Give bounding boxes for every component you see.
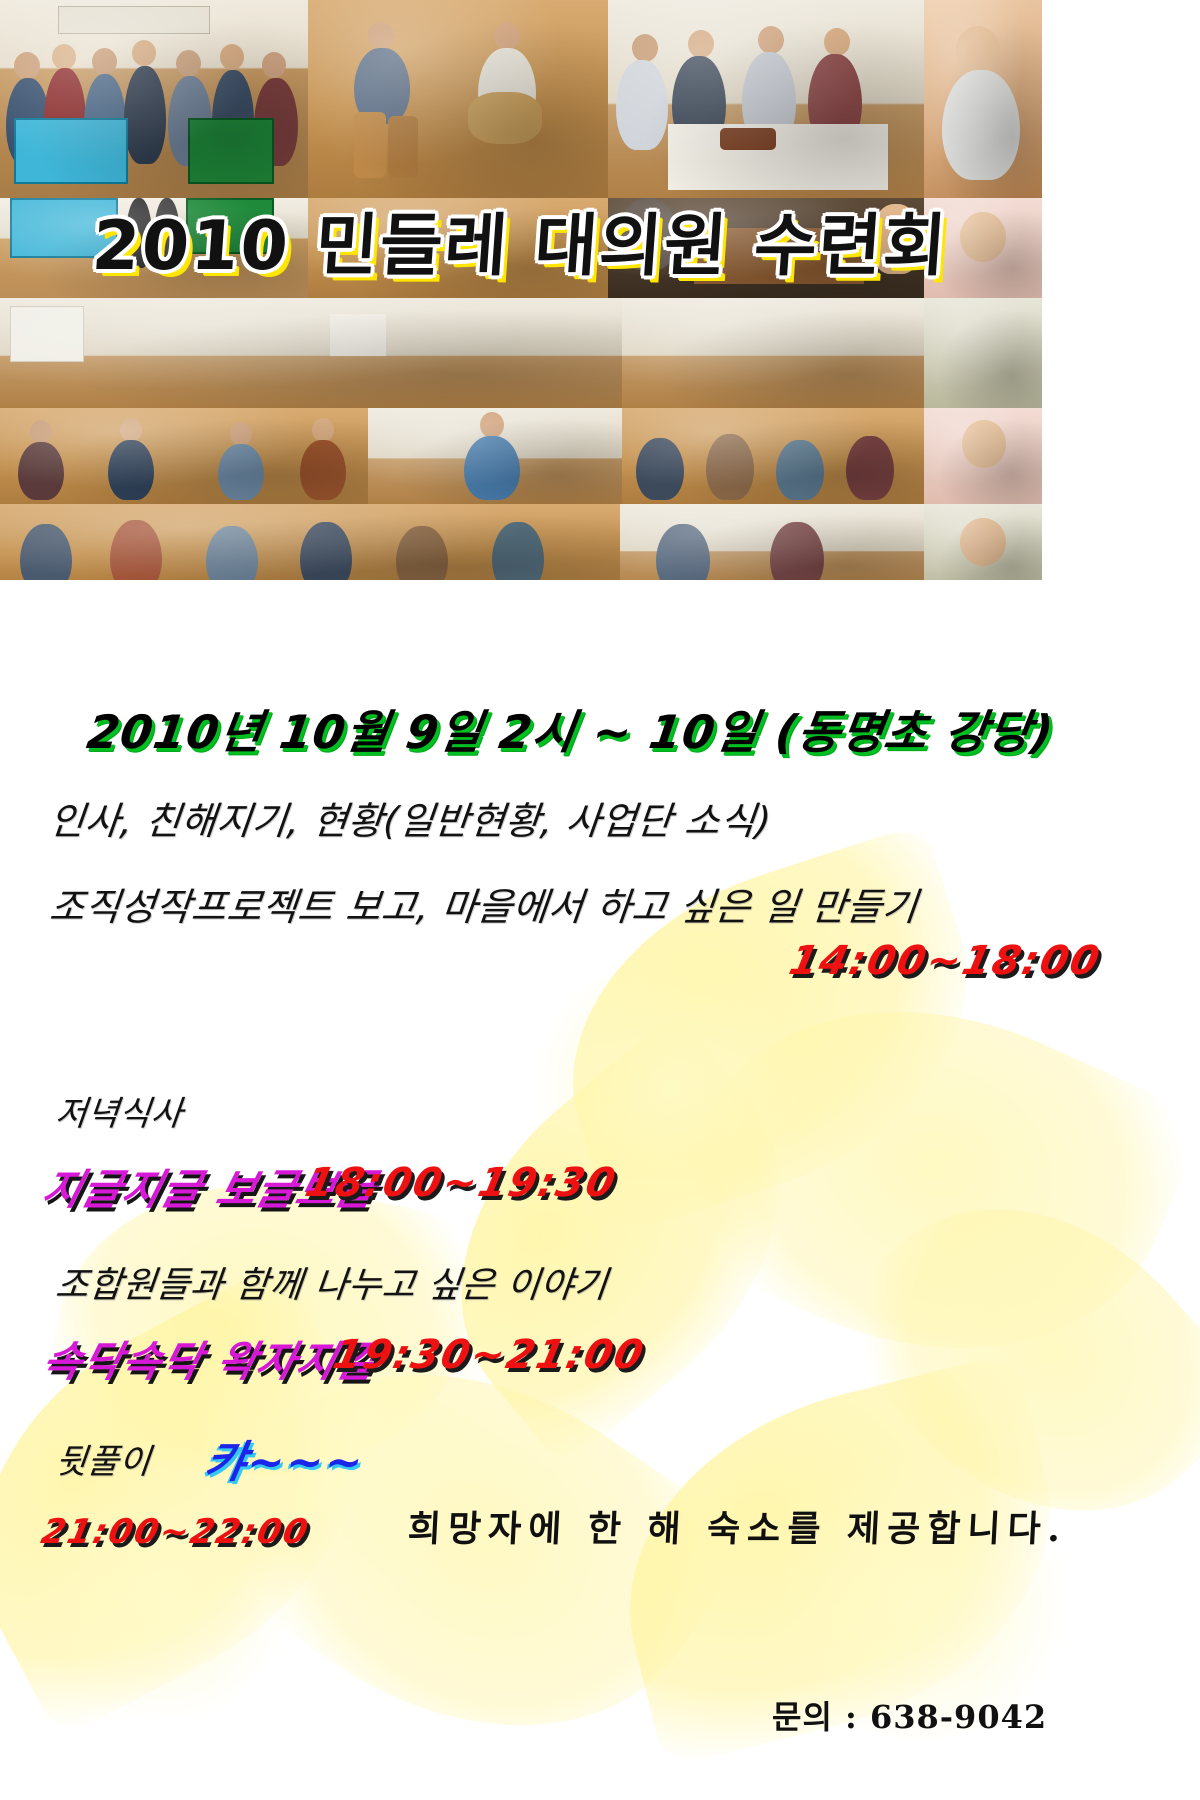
- photo-portrait-3: [924, 504, 1042, 580]
- event-poster: 2010 민들레 대의원 수련회 2010년 10월 9일 2시 ~ 10일 (…: [0, 0, 1200, 1800]
- photo-presenter: [368, 408, 622, 504]
- schedule-item-sharing-label: 조합원들과 함께 나누고 싶은 이야기: [53, 1256, 611, 1308]
- collage-row: [0, 298, 1042, 408]
- schedule-item-greeting: 인사, 친해지기, 현황(일반현황, 사업단 소식): [47, 790, 774, 845]
- schedule-time-project: 14:00~18:00: [785, 938, 1105, 984]
- schedule-time-afterparty: 21:00~22:00: [38, 1512, 313, 1552]
- photo-discussion: [608, 0, 924, 198]
- photo-hall-wide-2: [622, 298, 924, 408]
- schedule-time-dinner: 18:00~19:30: [301, 1160, 621, 1206]
- photo-audience: [622, 408, 924, 504]
- collage-row: [0, 504, 1042, 580]
- schedule-item-afterparty-fun: 캬~~~: [200, 1426, 370, 1490]
- photo-portrait-2: [924, 408, 1042, 504]
- photo-floor: [308, 198, 608, 298]
- photo-table-meeting: [608, 198, 924, 298]
- photo-seated-group: [0, 504, 620, 580]
- collage-row: [0, 198, 1042, 298]
- schedule-item-dinner-label: 저녁식사: [53, 1086, 185, 1135]
- event-date-line: 2010년 10월 9일 2시 ~ 10일 (동명초 강당): [83, 696, 1058, 762]
- photo-portrait: [924, 198, 1042, 298]
- schedule-time-sharing: 19:30~21:00: [329, 1332, 649, 1378]
- photo-person-pointing: [924, 0, 1042, 198]
- schedule-item-afterparty-label: 뒷풀이: [53, 1434, 153, 1483]
- photo-drummers: [308, 0, 608, 198]
- collage-row: [0, 408, 1042, 504]
- photo-floor-workshop: [0, 408, 368, 504]
- photo-hall-wide: [0, 298, 622, 408]
- photo-hall-wide-3: [924, 298, 1042, 408]
- collage-row: [0, 0, 1042, 198]
- photo-collage: 2010 민들레 대의원 수련회: [0, 0, 1042, 580]
- schedule-item-project: 조직성작프로젝트 보고, 마을에서 하고 싶은 일 만들기: [47, 876, 921, 931]
- photo-group-shot: [0, 0, 308, 198]
- contact-info: 문의 : 638-9042: [772, 1692, 1047, 1738]
- poster-content: 2010년 10월 9일 2시 ~ 10일 (동명초 강당) 인사, 친해지기,…: [0, 580, 1200, 1800]
- photo-banner-wall: [0, 198, 308, 298]
- photo-lecture: [620, 504, 924, 580]
- lodging-notice: 희망자에 한 해 숙소를 제공합니다.: [407, 1500, 1069, 1552]
